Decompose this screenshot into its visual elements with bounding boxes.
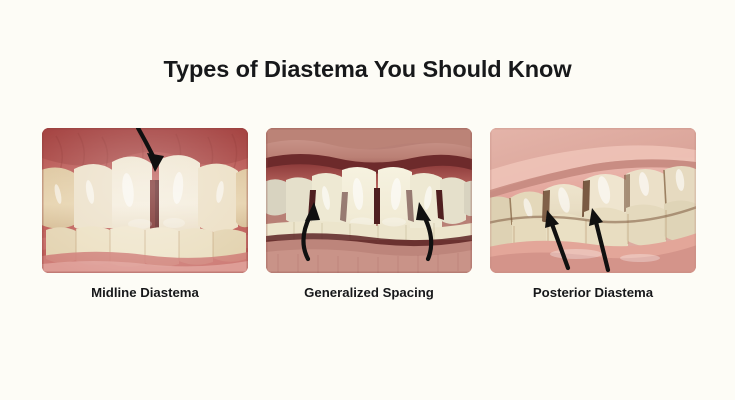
generalized-spacing-photo [266,128,472,273]
list-item: Posterior Diastema [490,128,696,300]
page-title: Types of Diastema You Should Know [0,56,735,83]
posterior-diastema-illustration [490,128,696,273]
posterior-diastema-photo [490,128,696,273]
list-item: Generalized Spacing [266,128,472,300]
list-item-label: Generalized Spacing [266,285,472,300]
generalized-spacing-illustration [266,128,472,273]
midline-diastema-photo [42,128,248,273]
list-item-label: Posterior Diastema [490,285,696,300]
midline-diastema-illustration [42,128,248,273]
infographic-canvas: Types of Diastema You Should Know [0,0,735,400]
list-item-label: Midline Diastema [42,285,248,300]
diastema-card-row: Midline Diastema [42,128,696,300]
list-item: Midline Diastema [42,128,248,300]
